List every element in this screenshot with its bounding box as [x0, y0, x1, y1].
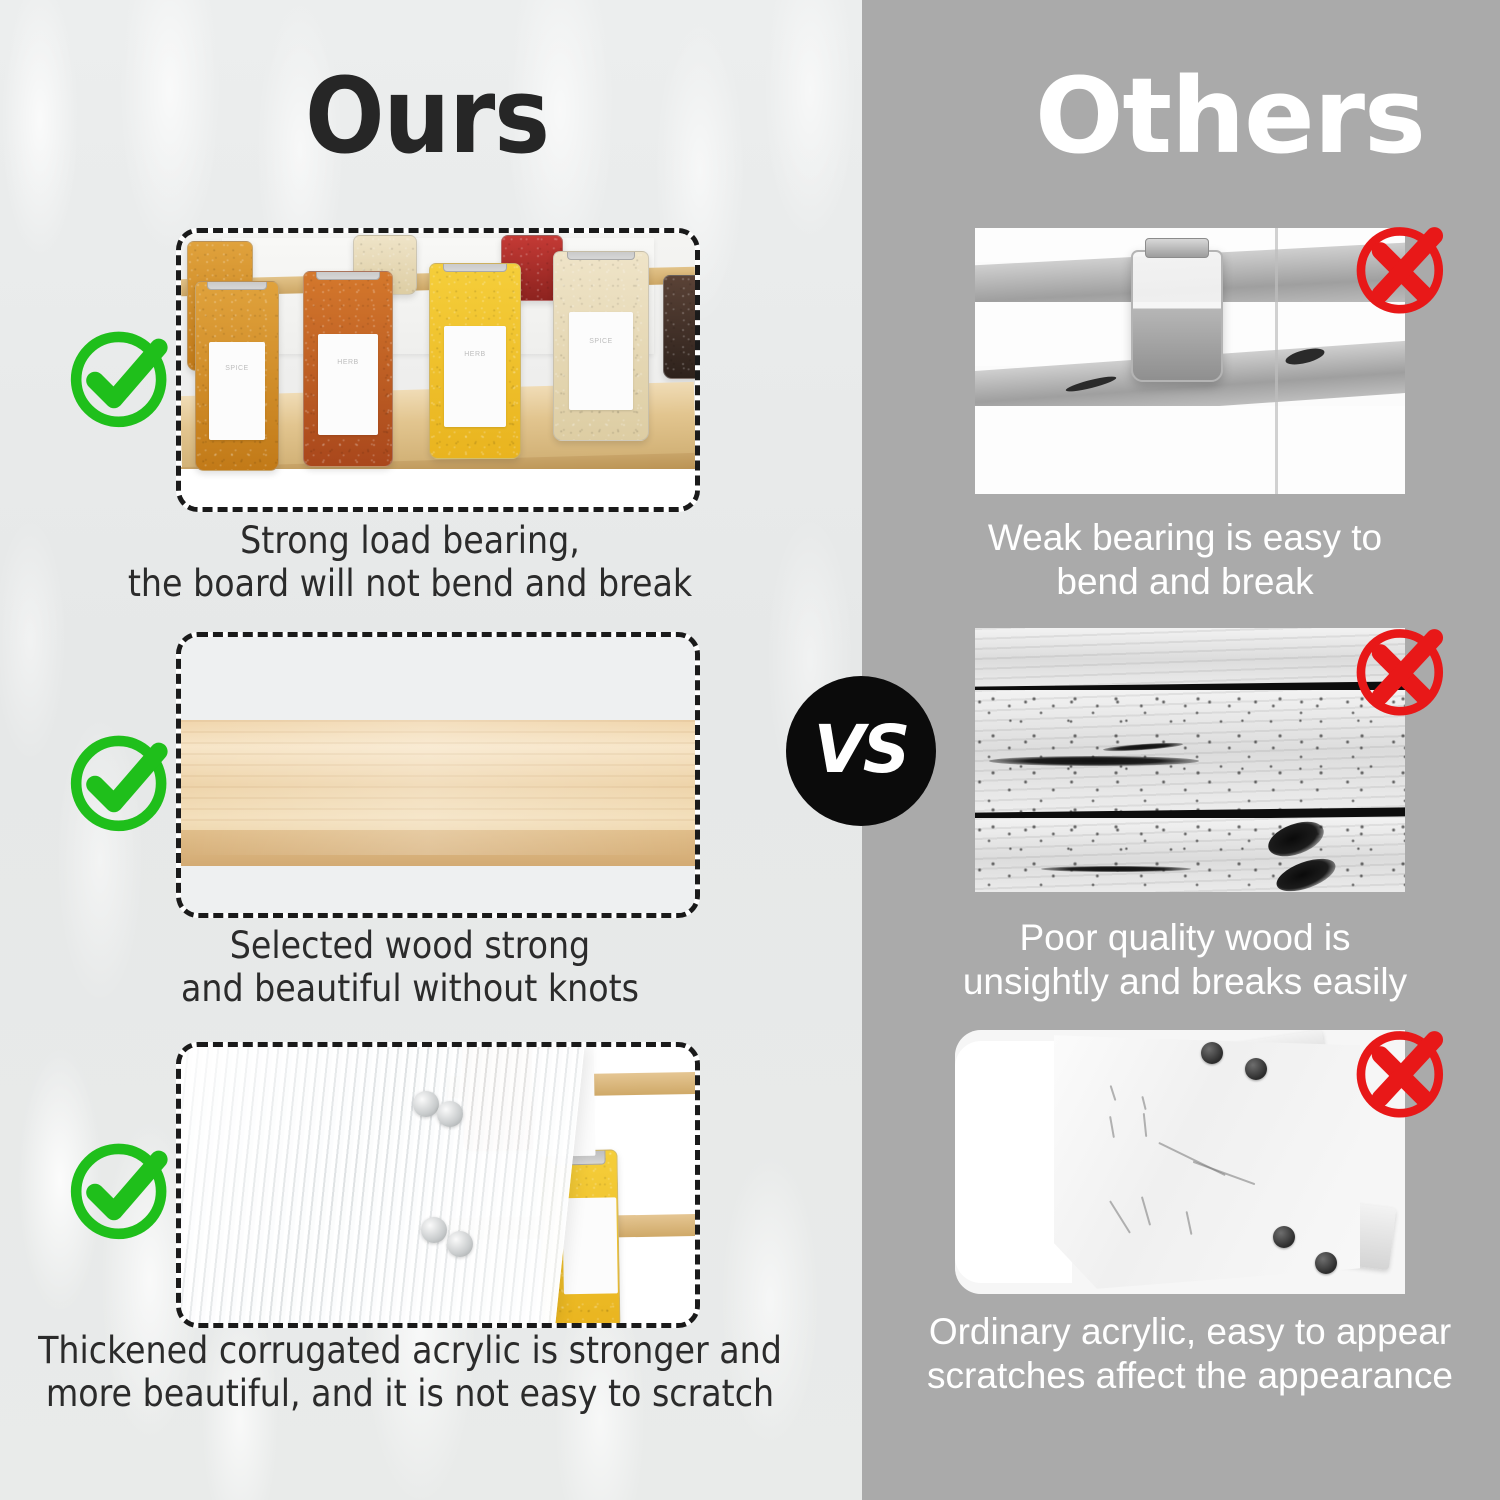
others-title: Others	[1035, 55, 1425, 177]
check-circle-icon	[62, 318, 180, 436]
comparison-infographic: Ours Others SPICE	[0, 0, 1500, 1500]
ours-image-load-bearing: SPICE HERB HERB SPICE	[176, 228, 700, 512]
check-circle-icon	[62, 722, 180, 840]
caption-line: more beautiful, and it is not easy to sc…	[0, 1373, 830, 1416]
others-caption-poor-wood: Poor quality wood is unsightly and break…	[905, 916, 1465, 1005]
spice-jar: HERB	[429, 263, 521, 459]
check-circle-icon	[62, 1130, 180, 1248]
others-caption-ordinary-acrylic: Ordinary acrylic, easy to appear scratch…	[900, 1310, 1480, 1399]
spice-jar: SPICE	[195, 281, 279, 471]
caption-line: Strong load bearing,	[0, 520, 820, 563]
caption-line: Thickened corrugated acrylic is stronger…	[0, 1330, 830, 1373]
cross-circle-icon	[1348, 212, 1456, 320]
caption-line: unsightly and breaks easily	[905, 960, 1465, 1004]
cross-circle-icon	[1348, 614, 1456, 722]
caption-line: the board will not bend and break	[0, 563, 820, 606]
cross-circle-icon	[1348, 1016, 1456, 1124]
ours-caption-corrugated-acrylic: Thickened corrugated acrylic is stronger…	[0, 1330, 830, 1416]
caption-line: scratches affect the appearance	[900, 1354, 1480, 1398]
spice-jars-scene: SPICE HERB HERB SPICE	[181, 233, 695, 507]
others-image-ordinary-acrylic	[955, 1030, 1405, 1294]
ours-caption-load-bearing: Strong load bearing, the board will not …	[0, 520, 820, 606]
caption-line: Weak bearing is easy to	[905, 516, 1465, 560]
jar-label: HERB	[444, 326, 505, 427]
vs-label: VS	[814, 711, 909, 788]
caption-line: Poor quality wood is	[905, 916, 1465, 960]
ours-title: Ours	[305, 55, 549, 177]
jar-label: HERB	[318, 334, 378, 435]
others-caption-weak-bearing: Weak bearing is easy to bend and break	[905, 516, 1465, 605]
knotty-wood-scene	[975, 628, 1405, 892]
caption-line: bend and break	[905, 560, 1465, 604]
vs-badge: VS	[786, 676, 936, 826]
ours-image-corrugated-acrylic	[176, 1042, 700, 1328]
ours-image-selected-wood	[176, 632, 700, 918]
jar-label: SPICE	[209, 342, 265, 440]
caption-line: Selected wood strong	[0, 925, 820, 968]
ours-caption-selected-wood: Selected wood strong and beautiful witho…	[0, 925, 820, 1011]
bending-shelf-scene	[975, 228, 1405, 494]
caption-line: Ordinary acrylic, easy to appear	[900, 1310, 1480, 1354]
wood-board-scene	[181, 637, 695, 913]
others-image-weak-bearing	[975, 228, 1405, 494]
spice-jar: SPICE	[553, 251, 649, 441]
scratched-acrylic-scene	[955, 1030, 1405, 1294]
jar-label: SPICE	[569, 312, 633, 410]
corrugated-acrylic-scene	[181, 1047, 695, 1323]
spice-jar: HERB	[303, 271, 393, 467]
caption-line: and beautiful without knots	[0, 968, 820, 1011]
others-image-poor-wood	[975, 628, 1405, 892]
